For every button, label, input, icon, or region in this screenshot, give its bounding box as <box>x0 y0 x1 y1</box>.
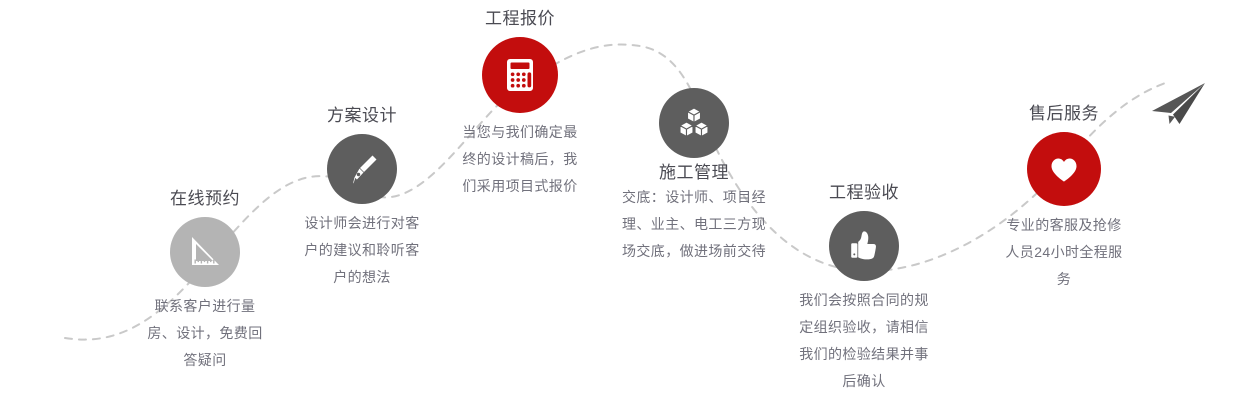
flow-step-4: 施工管理 交底：设计师、项目经 理、业主、电工三方现 场交底，做进场前交待 <box>598 88 790 265</box>
flow-step-1-description: 联系客户进行量 房、设计，免费回 答疑问 <box>125 293 285 374</box>
desc-line: 后确认 <box>768 368 960 395</box>
fountain-pen-icon <box>327 134 397 204</box>
flow-step-1: 在线预约 联系客户进行量 房、设计，免费回 答疑问 <box>125 188 285 374</box>
desc-line: 答疑问 <box>125 347 285 374</box>
process-flow-infographic: 在线预约 联系客户进行量 房、设计，免费回 答疑问 <box>0 0 1245 402</box>
desc-line: 场交底，做进场前交待 <box>598 238 790 265</box>
flow-step-3: 工程报价 当您与我们确定最 <box>430 8 610 200</box>
flow-step-6-title: 售后服务 <box>975 103 1153 125</box>
flow-step-4-title: 施工管理 <box>598 162 790 184</box>
flow-step-6-description: 专业的客服及抢修 人员24小时全程服 务 <box>975 212 1153 293</box>
flow-step-5-description: 我们会按照合同的规 定组织验收，请相信 我们的检验结果并事 后确认 <box>768 287 960 395</box>
calculator-icon <box>482 37 558 113</box>
desc-line: 我们会按照合同的规 <box>768 287 960 314</box>
flow-step-3-title: 工程报价 <box>430 8 610 30</box>
flow-step-1-title: 在线预约 <box>125 188 285 210</box>
flow-step-2-title: 方案设计 <box>278 105 446 127</box>
flow-step-2: 方案设计 设计师会进行对客 户的建议和聆听客 户的想法 <box>278 105 446 291</box>
heart-icon <box>1027 132 1101 206</box>
paper-plane-icon <box>1148 80 1210 137</box>
flow-step-3-description: 当您与我们确定最 终的设计稿后，我 们采用项目式报价 <box>430 119 610 200</box>
flow-step-4-description: 交底：设计师、项目经 理、业主、电工三方现 场交底，做进场前交待 <box>598 184 790 265</box>
flow-step-6: 售后服务 专业的客服及抢修 人员24小时全程服 务 <box>975 103 1153 293</box>
desc-line: 设计师会进行对客 <box>278 210 446 237</box>
desc-line: 联系客户进行量 <box>125 293 285 320</box>
desc-line: 交底：设计师、项目经 <box>598 184 790 211</box>
flow-step-2-description: 设计师会进行对客 户的建议和聆听客 户的想法 <box>278 210 446 291</box>
desc-line: 终的设计稿后，我 <box>430 146 610 173</box>
desc-line: 户的想法 <box>278 264 446 291</box>
desc-line: 当您与我们确定最 <box>430 119 610 146</box>
desc-line: 专业的客服及抢修 <box>975 212 1153 239</box>
thumbs-up-icon <box>829 211 899 281</box>
set-square-ruler-icon <box>170 217 240 287</box>
desc-line: 户的建议和聆听客 <box>278 237 446 264</box>
flow-step-5: 工程验收 我们会按照合同的规 定组织验收，请相信 我们的检验结果并事 后确认 <box>768 182 960 395</box>
desc-line: 人员24小时全程服 <box>975 239 1153 266</box>
flow-step-5-title: 工程验收 <box>768 182 960 204</box>
desc-line: 我们的检验结果并事 <box>768 341 960 368</box>
desc-line: 房、设计，免费回 <box>125 320 285 347</box>
desc-line: 理、业主、电工三方现 <box>598 211 790 238</box>
desc-line: 务 <box>975 266 1153 293</box>
stacked-boxes-icon <box>659 88 729 158</box>
desc-line: 们采用项目式报价 <box>430 173 610 200</box>
desc-line: 定组织验收，请相信 <box>768 314 960 341</box>
